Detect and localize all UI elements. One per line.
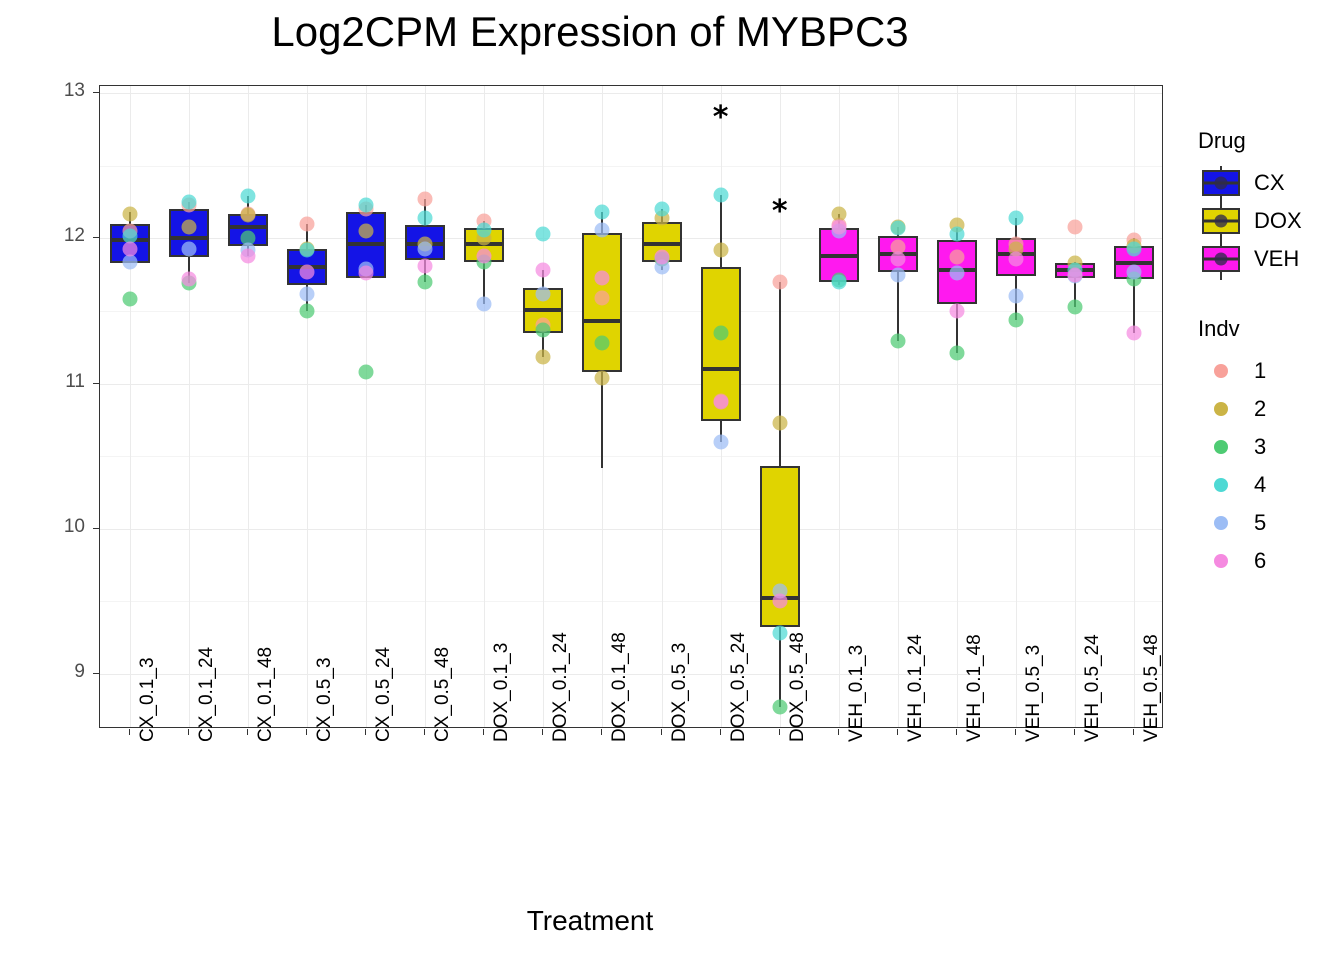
x-axis-tick <box>1074 729 1075 735</box>
gridline-minor <box>100 601 1162 602</box>
data-point-indv-4 <box>891 221 906 236</box>
legend-point-icon <box>1214 440 1228 454</box>
data-point-indv-1 <box>595 290 610 305</box>
x-axis-tick-label: CX_0.5_24 <box>373 647 395 742</box>
data-point-indv-5 <box>595 222 610 237</box>
data-point-indv-4 <box>950 227 965 242</box>
x-axis-tick-label: CX_0.5_3 <box>314 657 336 742</box>
x-axis-tick <box>897 729 898 735</box>
data-point-indv-4 <box>181 195 196 210</box>
data-point-indv-1 <box>299 216 314 231</box>
chart-title: Log2CPM Expression of MYBPC3 <box>0 8 1180 56</box>
legend-drug: Drug CXDOXVEH <box>1196 128 1344 278</box>
legend-item-indv-3[interactable]: 3 <box>1196 428 1344 466</box>
y-axis-tick <box>93 528 99 529</box>
gridline-vertical <box>130 86 131 727</box>
x-axis-tick <box>779 729 780 735</box>
x-axis-tick <box>247 729 248 735</box>
legend-indv-title: Indv <box>1198 316 1344 342</box>
x-axis-tick <box>601 729 602 735</box>
legend-point-icon <box>1215 253 1228 266</box>
x-axis-tick-label: VEH_0.5_24 <box>1082 634 1104 742</box>
data-point-indv-5 <box>181 241 196 256</box>
x-axis-tick <box>188 729 189 735</box>
chart-root: Log2CPM Expression of MYBPC3 ** log2CPM … <box>0 0 1344 960</box>
boxplot-median <box>819 254 859 258</box>
y-axis-tick <box>93 237 99 238</box>
x-axis-tick <box>720 729 721 735</box>
data-point-indv-2 <box>713 243 728 258</box>
significance-asterisk: * <box>772 197 788 227</box>
x-axis-tick-label: DOX_0.5_24 <box>728 632 750 742</box>
gridline-major <box>100 93 1162 94</box>
legend-label: VEH <box>1254 246 1299 272</box>
x-axis-tick-label: CX_0.1_24 <box>196 647 218 742</box>
y-axis-tick-label: 12 <box>40 225 85 247</box>
data-point-indv-6 <box>654 250 669 265</box>
gridline-minor <box>100 456 1162 457</box>
data-point-indv-2 <box>181 219 196 234</box>
data-point-indv-5 <box>122 254 137 269</box>
data-point-indv-6 <box>713 395 728 410</box>
x-axis-tick-label: CX_0.1_3 <box>137 657 159 742</box>
data-point-indv-3 <box>536 322 551 337</box>
gridline-vertical <box>307 86 308 727</box>
data-point-indv-4 <box>1127 241 1142 256</box>
data-point-indv-6 <box>122 241 137 256</box>
gridline-vertical <box>484 86 485 727</box>
legend-label: 2 <box>1254 396 1266 422</box>
x-axis-tick-label: VEH_0.5_3 <box>1023 645 1045 742</box>
legend-point-icon <box>1215 177 1228 190</box>
x-axis-tick-label: DOX_0.1_48 <box>609 632 631 742</box>
x-axis-tick-label: VEH_0.1_3 <box>846 645 868 742</box>
data-point-indv-4 <box>1009 211 1024 226</box>
x-axis-tick-label: DOX_0.1_3 <box>491 643 513 742</box>
data-point-indv-6 <box>950 303 965 318</box>
legend-point-icon <box>1214 516 1228 530</box>
legend-point-icon <box>1215 215 1228 228</box>
data-point-indv-3 <box>418 274 433 289</box>
significance-asterisk: * <box>713 103 729 133</box>
legend-item-indv-2[interactable]: 2 <box>1196 390 1344 428</box>
data-point-indv-6 <box>299 264 314 279</box>
x-axis-tick-label: DOX_0.5_3 <box>669 643 691 742</box>
data-point-indv-3 <box>891 334 906 349</box>
gridline-vertical <box>898 86 899 727</box>
y-axis-tick <box>93 383 99 384</box>
data-point-indv-5 <box>536 286 551 301</box>
gridline-vertical <box>662 86 663 727</box>
legend-label: 3 <box>1254 434 1266 460</box>
data-point-indv-4 <box>299 243 314 258</box>
data-point-indv-2 <box>772 415 787 430</box>
data-point-indv-6 <box>240 248 255 263</box>
y-axis-tick <box>93 92 99 93</box>
boxplot-median <box>642 242 682 246</box>
legend-box-key <box>1202 208 1240 234</box>
legend-label: 4 <box>1254 472 1266 498</box>
data-point-indv-4 <box>240 189 255 204</box>
data-point-indv-3 <box>595 335 610 350</box>
plot-panel: ** <box>99 85 1163 728</box>
data-point-indv-3 <box>950 346 965 361</box>
data-point-indv-1 <box>1068 219 1083 234</box>
x-axis-tick-label: DOX_0.1_24 <box>550 632 572 742</box>
x-axis-tick <box>542 729 543 735</box>
data-point-indv-4 <box>477 222 492 237</box>
legend-point-icon <box>1214 402 1228 416</box>
data-point-indv-3 <box>122 292 137 307</box>
data-point-indv-3 <box>772 700 787 715</box>
data-point-indv-3 <box>359 364 374 379</box>
data-point-indv-3 <box>299 303 314 318</box>
gridline-vertical <box>425 86 426 727</box>
legend-label: CX <box>1254 170 1285 196</box>
data-point-indv-3 <box>1068 299 1083 314</box>
data-point-indv-4 <box>772 626 787 641</box>
data-point-indv-4 <box>418 211 433 226</box>
data-point-indv-6 <box>831 219 846 234</box>
legend-indv-rows: 123456 <box>1196 352 1344 580</box>
data-point-indv-1 <box>772 274 787 289</box>
x-axis-tick-label: DOX_0.5_48 <box>787 632 809 742</box>
data-point-indv-1 <box>950 250 965 265</box>
legend-item-indv-5[interactable]: 5 <box>1196 504 1344 542</box>
data-point-indv-5 <box>477 296 492 311</box>
boxplot-median <box>582 319 622 323</box>
legend-drug-rows: CXDOXVEH <box>1196 164 1344 278</box>
data-point-indv-4 <box>359 198 374 213</box>
x-axis-tick-label: CX_0.1_48 <box>255 647 277 742</box>
gridline-vertical <box>248 86 249 727</box>
data-point-indv-6 <box>181 272 196 287</box>
boxplot-median <box>701 367 741 371</box>
x-axis-tick <box>956 729 957 735</box>
data-point-indv-5 <box>950 266 965 281</box>
data-point-indv-4 <box>831 274 846 289</box>
data-point-indv-5 <box>1127 264 1142 279</box>
data-point-indv-5 <box>713 434 728 449</box>
data-point-indv-6 <box>891 251 906 266</box>
data-point-indv-6 <box>772 594 787 609</box>
gridline-vertical <box>189 86 190 727</box>
legend-label: DOX <box>1254 208 1302 234</box>
x-axis-tick <box>1133 729 1134 735</box>
legend-label: 6 <box>1254 548 1266 574</box>
boxplot-median <box>346 242 386 246</box>
x-axis-tick <box>365 729 366 735</box>
x-axis-tick-label: VEH_0.1_24 <box>905 634 927 742</box>
x-axis-tick <box>483 729 484 735</box>
data-point-indv-1 <box>418 192 433 207</box>
gridline-major <box>100 529 1162 530</box>
data-point-indv-5 <box>1009 289 1024 304</box>
gridline-vertical <box>1016 86 1017 727</box>
data-point-indv-2 <box>359 224 374 239</box>
gridline-vertical <box>1075 86 1076 727</box>
legend-point-icon <box>1214 554 1228 568</box>
data-point-indv-2 <box>122 206 137 221</box>
gridline-vertical <box>366 86 367 727</box>
legend-drug-title: Drug <box>1198 128 1344 154</box>
data-point-indv-4 <box>654 202 669 217</box>
data-point-indv-6 <box>418 258 433 273</box>
data-point-indv-2 <box>536 350 551 365</box>
legend-indv: Indv 123456 <box>1196 316 1344 580</box>
gridline-minor <box>100 311 1162 312</box>
x-axis-tick <box>661 729 662 735</box>
data-point-indv-6 <box>1127 325 1142 340</box>
gridline-minor <box>100 166 1162 167</box>
x-axis-tick <box>306 729 307 735</box>
y-axis-tick-label: 13 <box>40 80 85 102</box>
data-point-indv-4 <box>595 205 610 220</box>
gridline-major <box>100 384 1162 385</box>
data-point-indv-3 <box>713 325 728 340</box>
data-point-indv-6 <box>536 263 551 278</box>
data-point-indv-5 <box>418 241 433 256</box>
legend-box-key <box>1202 246 1240 272</box>
gridline-vertical <box>543 86 544 727</box>
legend-item-drug-veh[interactable]: VEH <box>1196 240 1344 278</box>
x-axis-tick-label: VEH_0.1_48 <box>964 634 986 742</box>
boxplot-median <box>169 236 209 240</box>
data-point-indv-6 <box>359 266 374 281</box>
legend-item-indv-4[interactable]: 4 <box>1196 466 1344 504</box>
x-axis-tick <box>838 729 839 735</box>
x-axis-tick <box>129 729 130 735</box>
data-point-indv-6 <box>477 248 492 263</box>
data-point-indv-2 <box>595 370 610 385</box>
data-point-indv-3 <box>1009 312 1024 327</box>
x-axis-tick <box>1015 729 1016 735</box>
data-point-indv-4 <box>536 227 551 242</box>
y-axis-tick-label: 10 <box>40 516 85 538</box>
data-point-indv-5 <box>299 286 314 301</box>
gridline-vertical <box>1134 86 1135 727</box>
boxplot-median <box>523 308 563 312</box>
data-point-indv-4 <box>713 187 728 202</box>
y-axis-tick-label: 9 <box>40 661 85 683</box>
x-axis-tick <box>424 729 425 735</box>
legend-item-indv-1[interactable]: 1 <box>1196 352 1344 390</box>
legend-label: 5 <box>1254 510 1266 536</box>
y-axis-tick-label: 11 <box>40 371 85 393</box>
data-point-indv-6 <box>595 270 610 285</box>
legend-container: Drug CXDOXVEH Indv 123456 <box>1196 128 1344 580</box>
x-axis-tick-label: VEH_0.5_48 <box>1141 634 1163 742</box>
legend-point-icon <box>1214 478 1228 492</box>
legend-item-indv-6[interactable]: 6 <box>1196 542 1344 580</box>
data-point-indv-6 <box>1009 251 1024 266</box>
data-point-indv-5 <box>891 267 906 282</box>
boxplot-median <box>228 225 268 229</box>
legend-box-key <box>1202 170 1240 196</box>
gridline-vertical <box>839 86 840 727</box>
y-axis-tick <box>93 673 99 674</box>
gridline-vertical <box>957 86 958 727</box>
data-point-indv-6 <box>1068 267 1083 282</box>
legend-label: 1 <box>1254 358 1266 384</box>
data-point-indv-2 <box>240 208 255 223</box>
legend-point-icon <box>1214 364 1228 378</box>
x-axis-tick-label: CX_0.5_48 <box>432 647 454 742</box>
legend-item-drug-dox[interactable]: DOX <box>1196 202 1344 240</box>
x-axis-label: Treatment <box>0 905 1180 937</box>
legend-item-drug-cx[interactable]: CX <box>1196 164 1344 202</box>
